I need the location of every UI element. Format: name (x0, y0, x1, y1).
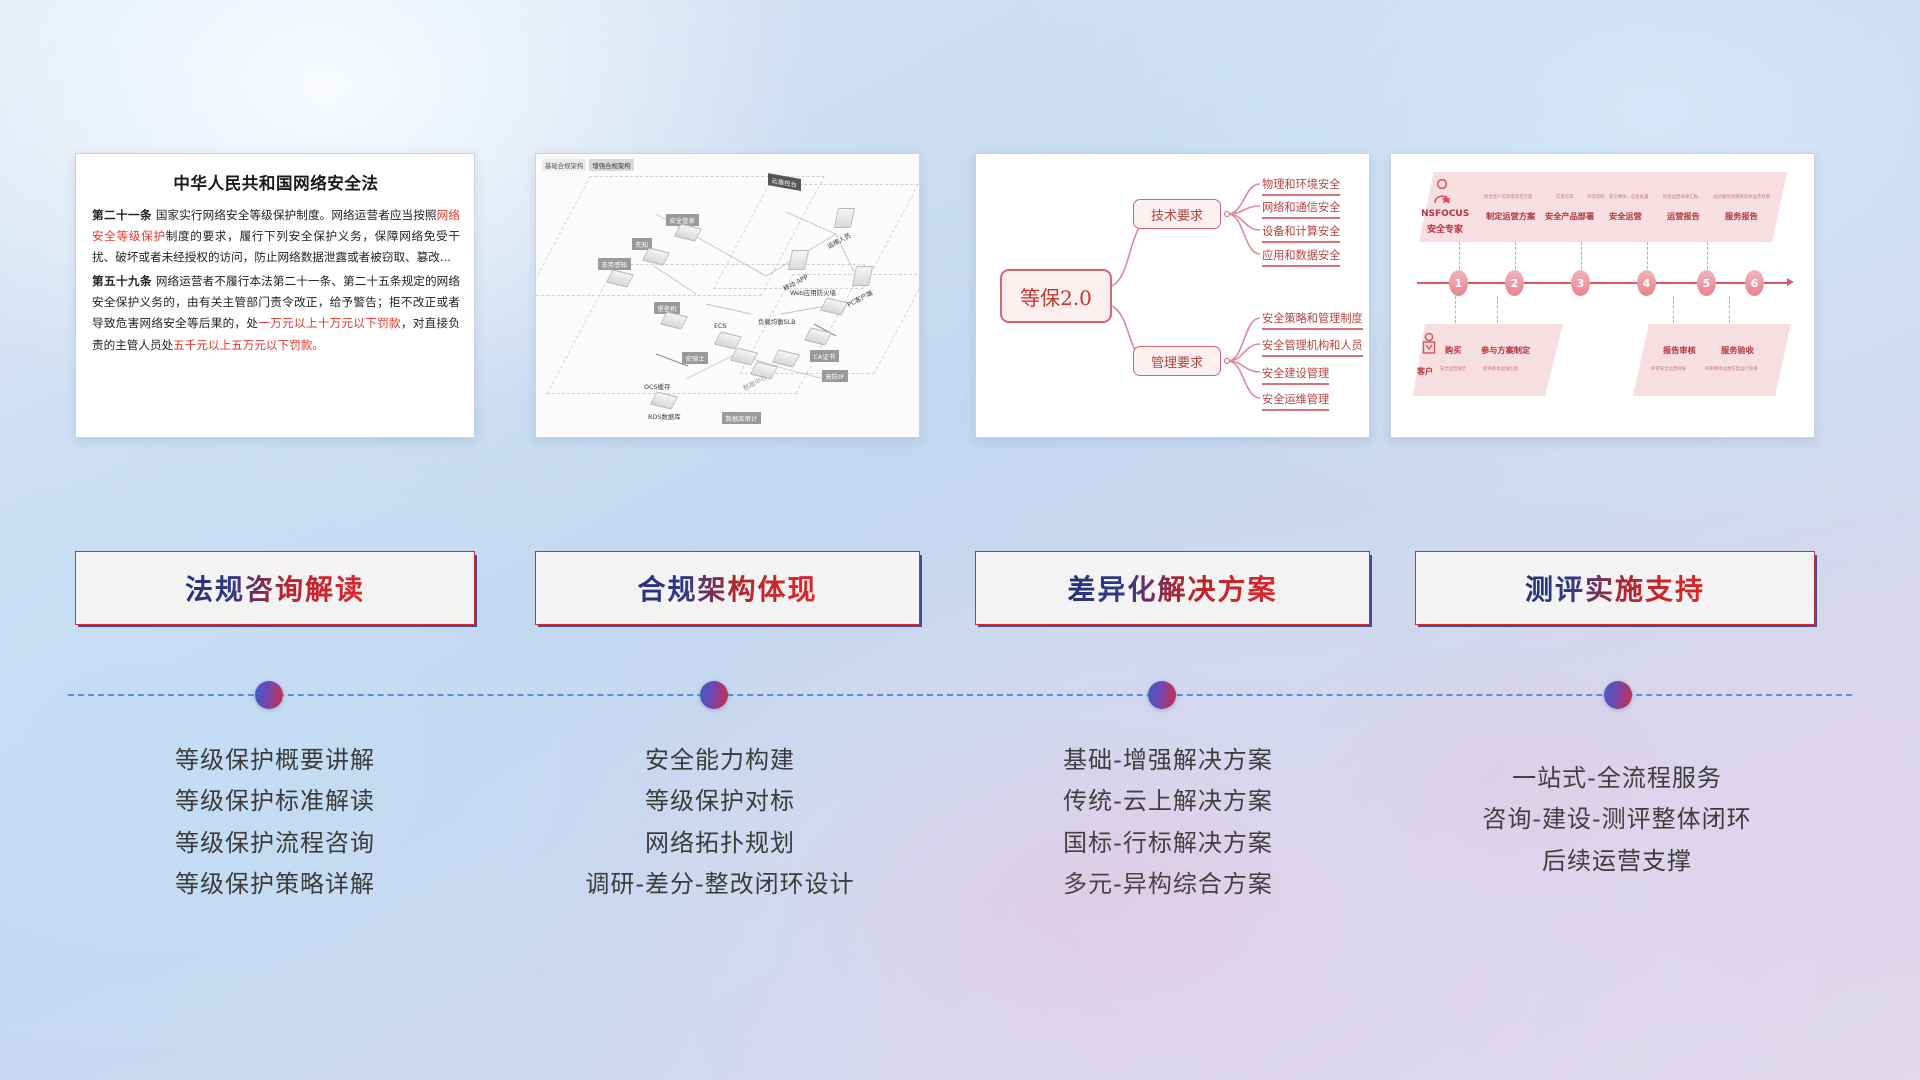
bottom-step-4-sub: 评审整体运营方案运行效果 (1705, 366, 1758, 372)
section-title-box-1[interactable]: 法规咨询解读 (75, 551, 475, 625)
section-title-3: 差异化解决方案 (1067, 568, 1277, 608)
card-service-timeline: NSFOCUS 安全专家 结合客户实际需求定方案 制定运营方案 实施方案 安全产… (1390, 153, 1815, 438)
mindmap-leaf-device-compute: 设备和计算安全 (1262, 223, 1340, 243)
customer-band-right (1633, 324, 1791, 396)
top-step-3-sub: 日常巡检、安全事件、应急处置 (1587, 194, 1648, 200)
leader-bottom-3 (1673, 296, 1674, 328)
timeline-axis (1417, 282, 1789, 284)
vendor-band (1419, 172, 1787, 242)
law-article-59: 第五十九条 网络运营者不履行本法第二十一条、第二十五条规定的网络安全保护义务的，… (92, 271, 460, 355)
section-title-box-3[interactable]: 差异化解决方案 (975, 551, 1370, 625)
mindmap-branch-technical: 技术要求 (1133, 199, 1221, 229)
section-title-box-4[interactable]: 测评实施支持 (1415, 551, 1815, 625)
timeline-step-1: 1 (1449, 270, 1468, 296)
law-title: 中华人民共和国网络安全法 (92, 170, 460, 194)
mindmap-diagram: 等保2.0 技术要求 物理和环境安全 网络和通信安全 设备和计算安全 应用和数据… (976, 154, 1369, 437)
list-item: 等级保护策略详解 (75, 864, 475, 905)
chip-database-audit: 数据库审计 (722, 412, 761, 424)
mindmap-branch-management: 管理要求 (1133, 346, 1221, 376)
top-step-3-title: 安全运营 (1609, 210, 1642, 222)
bottom-step-3-title: 报告审核 (1663, 344, 1696, 356)
mindmap-leaf-construction: 安全建设管理 (1262, 365, 1329, 385)
timeline-step-3: 3 (1571, 270, 1590, 296)
timeline-dashed-line (68, 694, 1852, 696)
mindmap-leaf-network-comm: 网络和通信安全 (1262, 199, 1340, 219)
law-article-21: 第二十一条 国家实行网络安全等级保护制度。网络运营者应当按照网络安全等级保护制度… (92, 205, 460, 268)
list-item: 传统-云上解决方案 (968, 781, 1368, 822)
top-step-1-title: 制定运营方案 (1486, 210, 1535, 222)
leader-bottom-2 (1497, 296, 1498, 328)
list-item: 等级保护概要讲解 (75, 740, 475, 781)
timeline-marker-4[interactable] (1604, 681, 1632, 709)
service-timeline-diagram: NSFOCUS 安全专家 结合客户实际需求定方案 制定运营方案 实施方案 安全产… (1391, 154, 1814, 437)
mindmap-leaf-org-personnel: 安全管理机构和人员 (1262, 337, 1363, 357)
list-item: 调研-差分-整改闭环设计 (520, 864, 920, 905)
mindmap-leaf-policy-system: 安全策略和管理制度 (1262, 310, 1363, 330)
bottom-step-2-title: 参与方案制定 (1481, 344, 1530, 356)
section-title-box-2[interactable]: 合规架构体现 (535, 551, 920, 625)
bottom-step-1-title: 购买 (1445, 344, 1461, 356)
label-waf: Web应用防火墙 (790, 288, 836, 297)
mindmap-leaf-app-data: 应用和数据安全 (1262, 247, 1340, 267)
feature-list-4: 一站式-全流程服务 咨询-建设-测评整体闭环 后续运营支撑 (1412, 758, 1822, 882)
article-21-text-1: 国家实行网络安全等级保护制度。网络运营者应当按照 (156, 208, 437, 222)
list-item: 咨询-建设-测评整体闭环 (1412, 799, 1822, 840)
article-59-highlight-2: 五千元以上五万元以下罚款。 (173, 338, 324, 352)
leader-bottom-1 (1455, 296, 1456, 328)
top-step-2-title: 安全产品部署 (1545, 210, 1594, 222)
article-59-highlight-1: 一万元以上十万元以下罚款 (258, 316, 401, 330)
list-item: 后续运营支撑 (1412, 841, 1822, 882)
section-title-2: 合规架构体现 (637, 568, 817, 608)
bottom-step-3-sub: 评审安全运营效果 (1651, 366, 1686, 372)
bottom-step-2-sub: 提供基本运维信息 (1483, 366, 1518, 372)
mindmap-leaf-operations: 安全运维管理 (1262, 391, 1329, 411)
article-59-label: 第五十九条 (92, 274, 152, 288)
section-title-4: 测评实施支持 (1525, 568, 1705, 608)
list-item: 等级保护标准解读 (75, 781, 475, 822)
timeline-step-6: 6 (1745, 270, 1764, 296)
card-mindmap: 等保2.0 技术要求 物理和环境安全 网络和通信安全 设备和计算安全 应用和数据… (975, 153, 1370, 438)
leader-bottom-4 (1729, 296, 1730, 328)
list-item: 多元-异构综合方案 (968, 864, 1368, 905)
mindmap-node-dot-management (1224, 358, 1230, 364)
label-rds-database: RDS数据库 (648, 412, 681, 421)
customer-label: 客户 (1417, 366, 1433, 377)
timeline-step-4: 4 (1637, 270, 1656, 296)
timeline-step-5: 5 (1697, 270, 1716, 296)
network-diagram: 基础合规架构 增强合规架构 (536, 154, 919, 437)
chip-situation-awareness: 态势感知 (598, 258, 631, 270)
label-ecs: ECS (714, 322, 727, 330)
top-step-2-sub: 实施方案 (1556, 194, 1574, 200)
top-step-4-sub: 阶段运营效果汇报 (1663, 194, 1698, 200)
list-item: 国标-行标解决方案 (968, 823, 1368, 864)
list-item: 基础-增强解决方案 (968, 740, 1368, 781)
top-step-1-sub: 结合客户实际需求定方案 (1484, 194, 1532, 200)
list-item: 安全能力构建 (520, 740, 920, 781)
expert-person-icon (1431, 178, 1453, 204)
article-21-label: 第二十一条 (92, 208, 152, 222)
mindmap-root: 等保2.0 (1000, 269, 1112, 323)
bottom-step-1-sub: 安全运营报告 (1440, 366, 1466, 372)
top-step-4-title: 运营报告 (1667, 210, 1700, 222)
timeline-arrow-icon (1787, 278, 1794, 286)
chip-anqishi: 安骑士 (682, 352, 708, 364)
bottom-step-4-title: 服务验收 (1721, 344, 1754, 356)
timeline-marker-1[interactable] (255, 681, 283, 709)
card-network-architecture: 基础合规架构 增强合规架构 (535, 153, 920, 438)
chip-anti-ddos-ip: 高防IP (822, 370, 848, 382)
vendor-name: NSFOCUS (1421, 209, 1469, 219)
label-slb: 负载均衡SLB (758, 317, 796, 326)
section-title-1: 法规咨询解读 (185, 568, 365, 608)
label-ocs-cache: OCS缓存 (644, 382, 670, 391)
customer-person-icon (1421, 332, 1437, 358)
list-item: 一站式-全流程服务 (1412, 758, 1822, 799)
feature-list-1: 等级保护概要讲解 等级保护标准解读 等级保护流程咨询 等级保护策略详解 (75, 740, 475, 905)
card-law-text: 中华人民共和国网络安全法 第二十一条 国家实行网络安全等级保护制度。网络运营者应… (75, 153, 475, 438)
timeline-step-2: 2 (1505, 270, 1524, 296)
feature-list-3: 基础-增强解决方案 传统-云上解决方案 国标-行标解决方案 多元-异构综合方案 (968, 740, 1368, 905)
top-step-5-sub: 总结服务效果及总体运营效果 (1713, 194, 1770, 200)
mindmap-leaf-physical-env: 物理和环境安全 (1262, 176, 1340, 196)
vendor-role: 安全专家 (1427, 222, 1463, 235)
list-item: 网络拓扑规划 (520, 823, 920, 864)
timeline-marker-2[interactable] (700, 681, 728, 709)
mindmap-node-dot-technical (1224, 211, 1230, 217)
timeline-marker-3[interactable] (1148, 681, 1176, 709)
law-document: 中华人民共和国网络安全法 第二十一条 国家实行网络安全等级保护制度。网络运营者应… (76, 154, 474, 366)
poster-canvas: 中华人民共和国网络安全法 第二十一条 国家实行网络安全等级保护制度。网络运营者应… (0, 0, 1920, 1080)
list-item: 等级保护对标 (520, 781, 920, 822)
chip-ca-certificate: CA证书 (810, 350, 839, 362)
top-step-5-title: 服务报告 (1725, 210, 1758, 222)
list-item: 等级保护流程咨询 (75, 823, 475, 864)
feature-list-2: 安全能力构建 等级保护对标 网络拓扑规划 调研-差分-整改闭环设计 (520, 740, 920, 905)
